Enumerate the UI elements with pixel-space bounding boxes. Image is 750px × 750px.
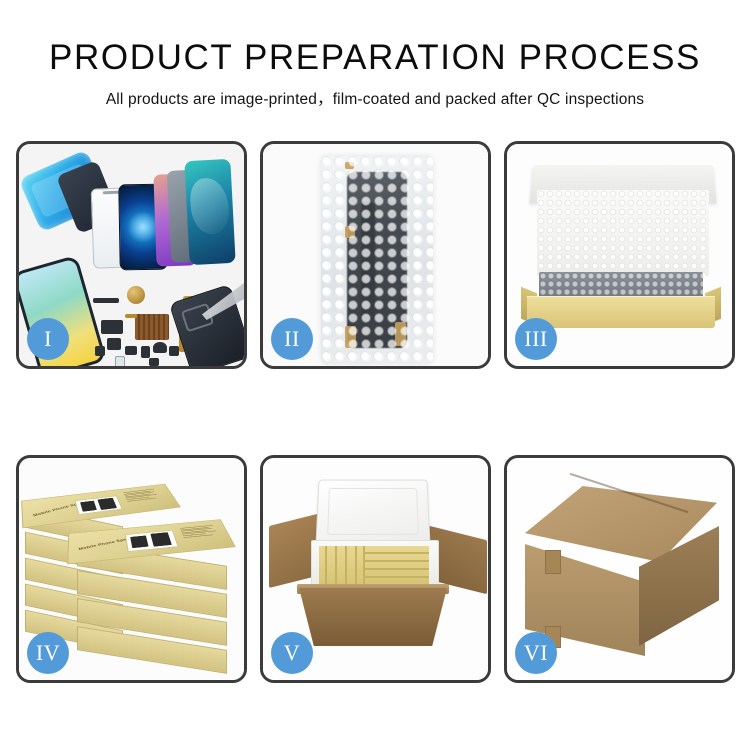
process-step-panel-1[interactable]: I: [16, 141, 247, 369]
box-artwork-back: [75, 496, 123, 515]
page-header: PRODUCT PREPARATION PROCESS All products…: [0, 0, 750, 109]
carton-front-panel: [299, 588, 447, 646]
step-badge-3: III: [515, 318, 557, 360]
kraft-boxes-inside: [319, 546, 429, 586]
kraft-box-front-panel: [527, 296, 715, 328]
page-title: PRODUCT PREPARATION PROCESS: [0, 38, 750, 78]
step-badge-6: VI: [515, 632, 557, 674]
styrofoam-lid: [315, 480, 430, 547]
step-badge-2: II: [271, 318, 313, 360]
process-step-grid: I II III: [16, 141, 735, 683]
step-badge-1: I: [27, 318, 69, 360]
process-step-panel-4[interactable]: Mobile Phone Spare Parts Mobile Phone Sp…: [16, 455, 247, 683]
process-step-panel-6[interactable]: VI: [504, 455, 735, 683]
phone-teal-display: [184, 159, 235, 265]
process-step-panel-3[interactable]: III: [504, 141, 735, 369]
white-foam-sheet: [537, 190, 709, 276]
step-badge-4: IV: [27, 632, 69, 674]
page-subtitle: All products are image-printed，film-coat…: [0, 87, 750, 109]
box-artwork-front: [125, 530, 179, 552]
process-step-panel-2[interactable]: II: [260, 141, 491, 369]
bubble-wrap-bag: [321, 156, 433, 364]
process-step-panel-5[interactable]: V: [260, 455, 491, 683]
step-badge-5: V: [271, 632, 313, 674]
